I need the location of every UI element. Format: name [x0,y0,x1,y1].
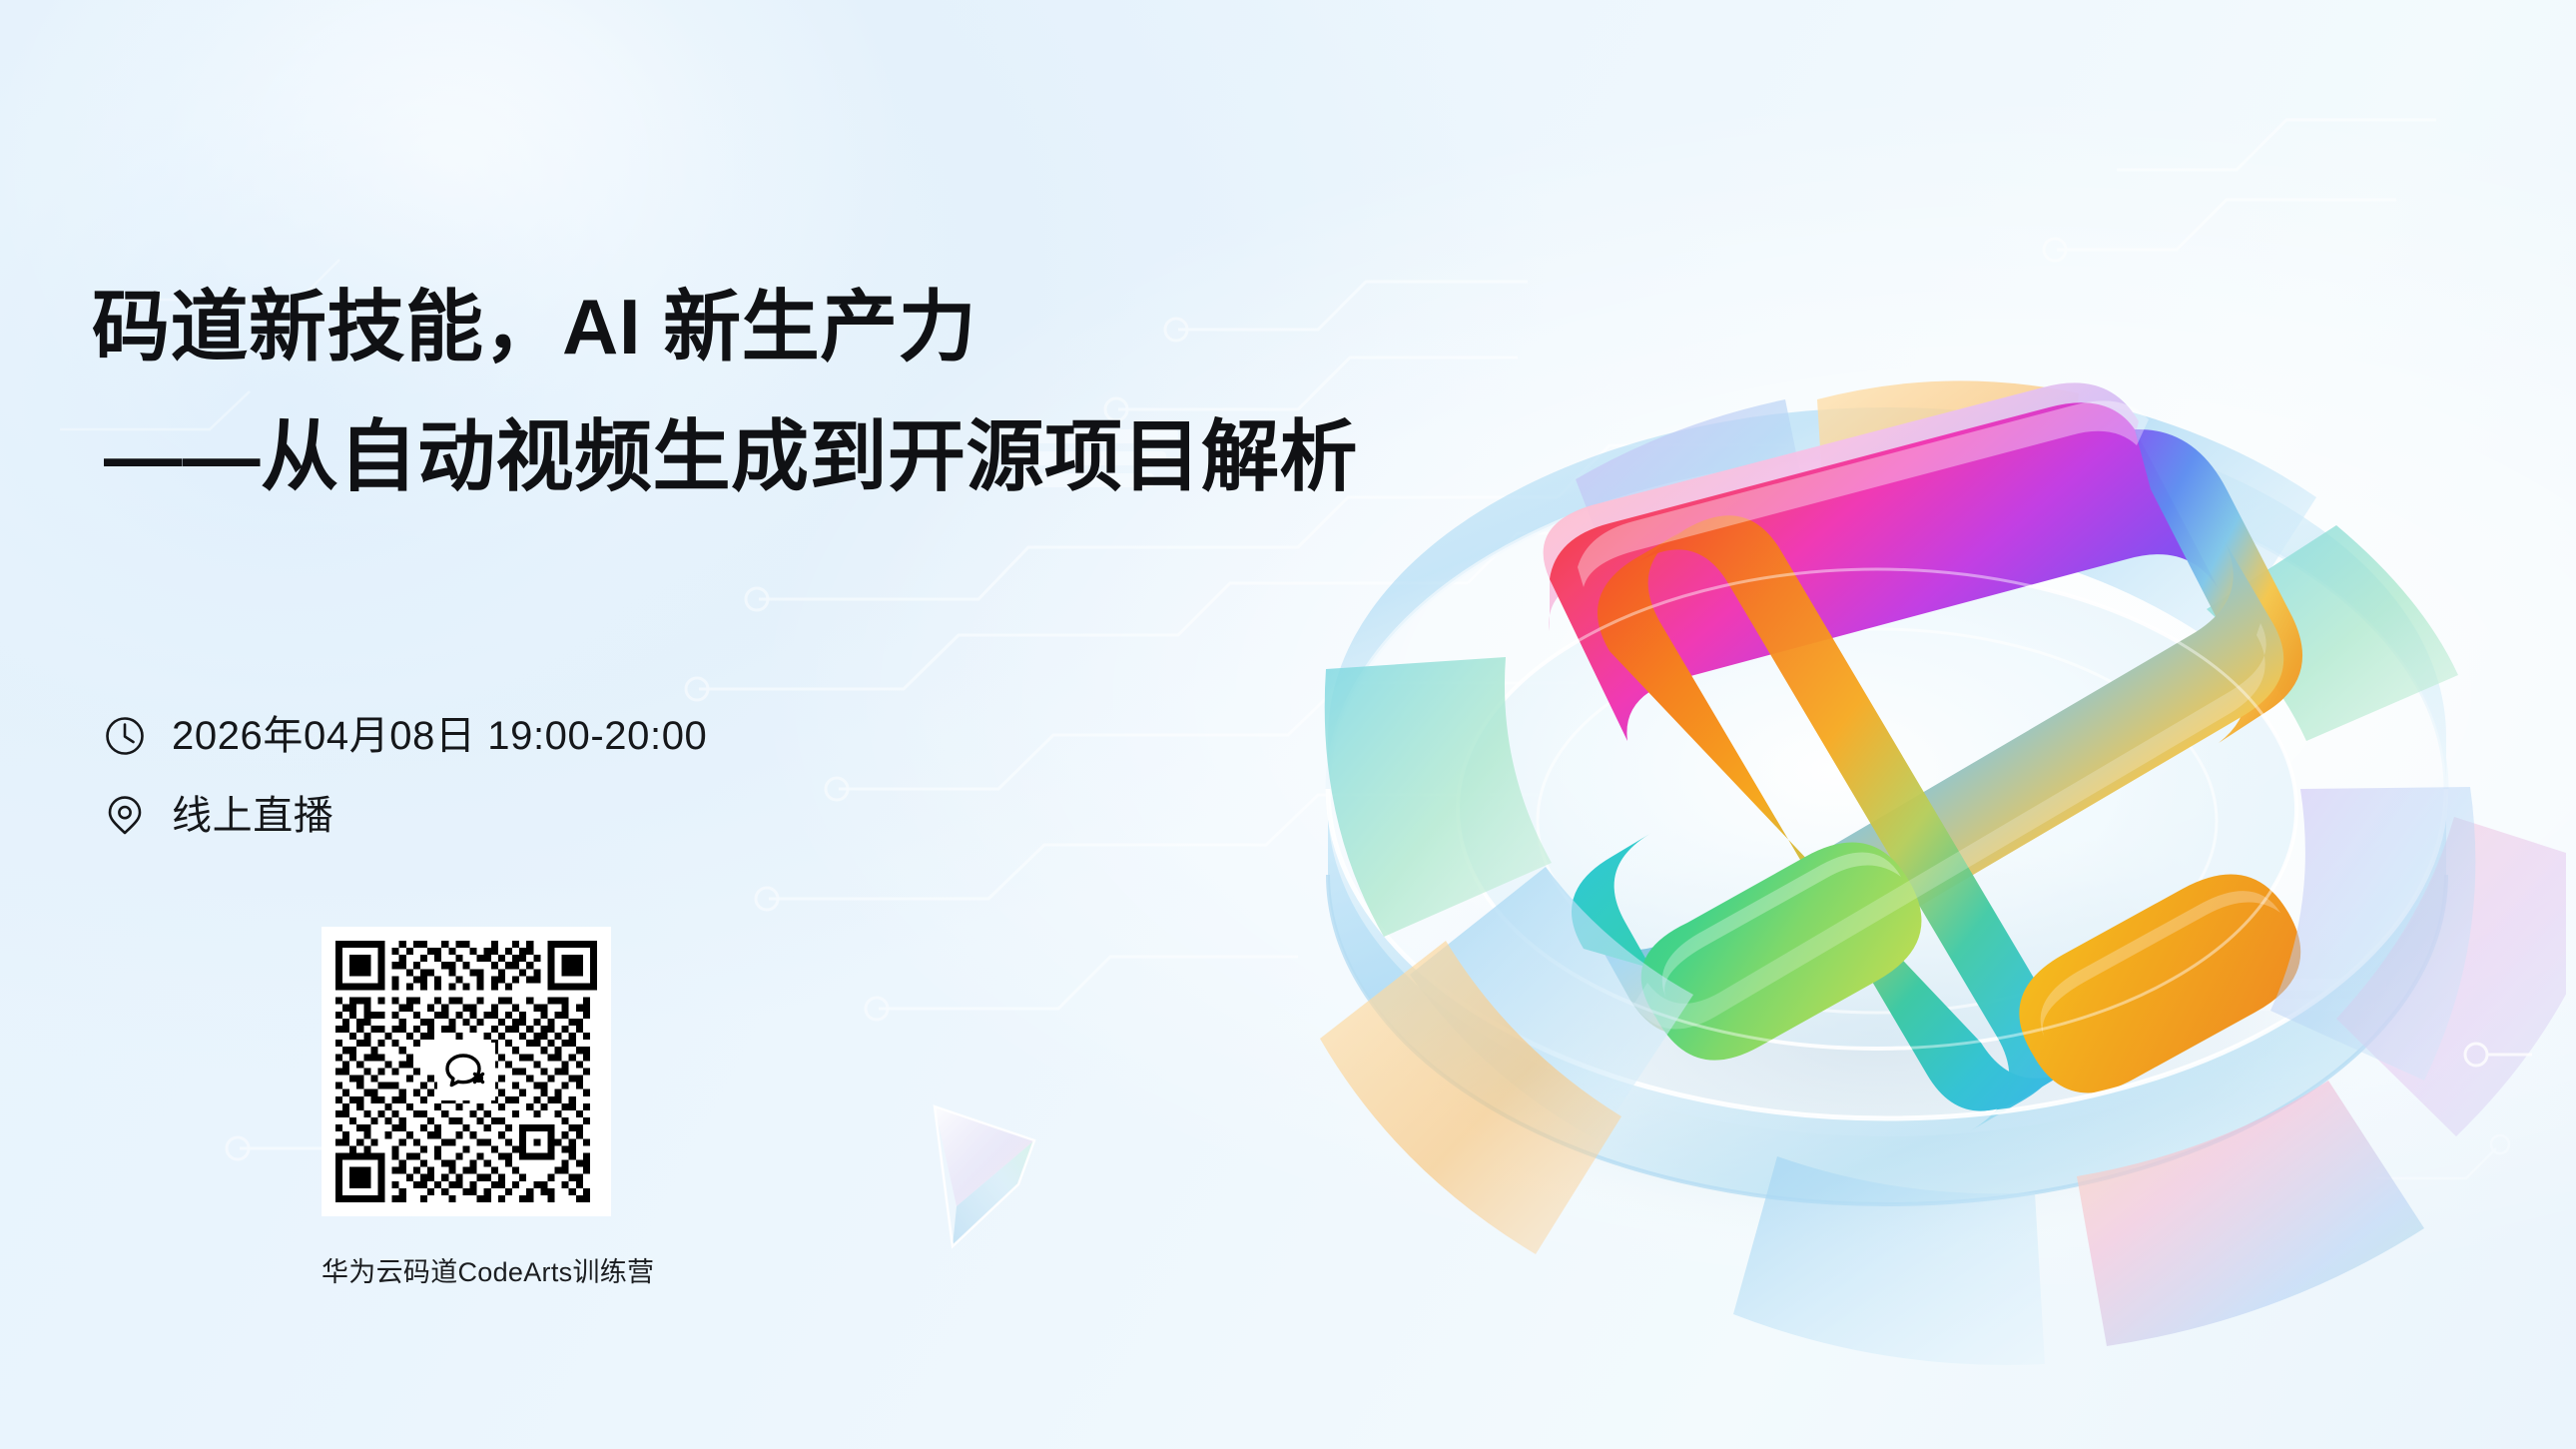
rainbow-ribbon [1544,382,2302,1130]
event-datetime-text: 2026年04月08日 19:00-20:00 [172,716,707,756]
event-location-text: 线上直播 [172,796,333,836]
sparkle-node [2465,1044,2532,1066]
qr-caption: 华为云码道CodeArts训练营 [322,1250,611,1289]
wechat-speech-bubble-icon [441,1047,491,1096]
page-title-line-1: 码道新技能，AI 新生产力 [92,288,1358,365]
glass-panels-front [1320,657,2566,1365]
page-title-line-2: ——从自动视频生成到开源项目解析 [104,417,1358,495]
qr-block: 华为云码道CodeArts训练营 [322,927,611,1289]
qr-code[interactable] [322,927,611,1216]
event-datetime-row: 2026年04月08日 19:00-20:00 [104,715,707,757]
glass-ring-front [1328,789,2446,1204]
title-block: 码道新技能，AI 新生产力 ——从自动视频生成到开源项目解析 [92,288,1358,495]
webinar-banner: 码道新技能，AI 新生产力 ——从自动视频生成到开源项目解析 2026年04月0… [0,0,2576,1449]
qr-center-badge [437,1043,495,1100]
location-pin-icon [104,795,146,837]
event-meta-block: 2026年04月08日 19:00-20:00 线上直播 [104,715,707,875]
glass-panels-back [1576,380,2458,741]
clock-icon [104,715,146,757]
event-location-row: 线上直播 [104,795,707,837]
glass-ring-back [1328,407,2446,1118]
content-column: 码道新技能，AI 新生产力 ——从自动视频生成到开源项目解析 2026年04月0… [92,0,1440,1449]
